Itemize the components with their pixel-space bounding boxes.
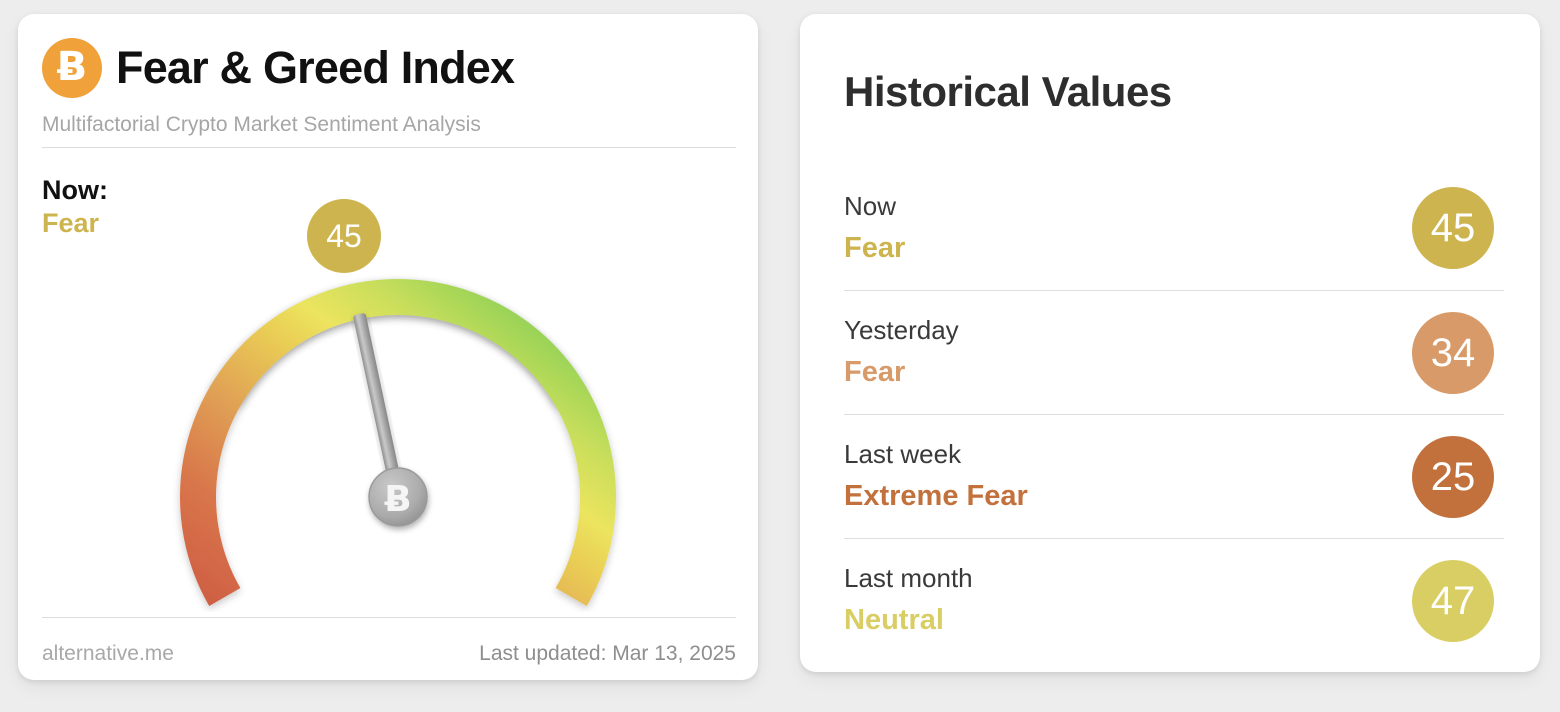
last-updated-text: Last updated: Mar 13, 2025 (479, 642, 736, 666)
page-title: Fear & Greed Index (116, 42, 514, 94)
bitcoin-needle-glyph: Ƀ (384, 479, 411, 520)
history-row-text: Last week Extreme Fear (844, 438, 1412, 514)
page-root: Ƀ Fear & Greed Index Multifactorial Cryp… (0, 0, 1560, 712)
history-list: Now Fear 45 Yesterday Fear 34 Last wee (844, 166, 1504, 662)
header-divider (42, 147, 736, 148)
card-header: Ƀ Fear & Greed Index (42, 38, 514, 98)
gauge-value-badge: 45 (307, 199, 381, 273)
fear-greed-gauge-card: Ƀ Fear & Greed Index Multifactorial Cryp… (18, 14, 758, 680)
history-row-value: 34 (1431, 333, 1476, 373)
history-row-text: Now Fear (844, 190, 1412, 266)
status-badge: 25 (1412, 436, 1494, 518)
page-subtitle: Multifactorial Crypto Market Sentiment A… (42, 113, 481, 137)
list-item[interactable]: Now Fear 45 (844, 166, 1504, 290)
history-row-period: Yesterday (844, 314, 1412, 348)
status-badge: 34 (1412, 312, 1494, 394)
bitcoin-glyph: Ƀ (57, 47, 88, 87)
status-badge: 47 (1412, 560, 1494, 642)
history-row-classification: Fear (844, 354, 1412, 390)
status-badge: 45 (1412, 187, 1494, 269)
history-row-classification: Neutral (844, 602, 1412, 638)
gauge-value-text: 45 (326, 220, 362, 252)
history-row-classification: Extreme Fear (844, 478, 1412, 514)
now-classification: Fear (42, 207, 108, 240)
history-row-value: 45 (1431, 208, 1476, 248)
current-value-block: Now: Fear (42, 174, 108, 241)
history-title: Historical Values (844, 68, 1172, 116)
list-item[interactable]: Yesterday Fear 34 (844, 290, 1504, 414)
history-row-text: Yesterday Fear (844, 314, 1412, 390)
history-row-period: Last month (844, 562, 1412, 596)
history-row-value: 25 (1431, 457, 1476, 497)
footer-divider (42, 617, 736, 618)
now-label: Now: (42, 174, 108, 207)
list-item[interactable]: Last week Extreme Fear 25 (844, 414, 1504, 538)
history-row-period: Last week (844, 438, 1412, 472)
source-link[interactable]: alternative.me (42, 642, 174, 666)
bitcoin-icon: Ƀ (42, 38, 102, 98)
historical-values-card: Historical Values Now Fear 45 Yesterday … (800, 14, 1540, 672)
gauge-arc (198, 297, 598, 597)
history-row-classification: Fear (844, 230, 1412, 266)
history-row-text: Last month Neutral (844, 562, 1412, 638)
gauge-needle-hub: Ƀ (369, 468, 427, 526)
list-item[interactable]: Last month Neutral 47 (844, 538, 1504, 662)
history-row-value: 47 (1431, 581, 1476, 621)
gauge-chart: Ƀ 45 (138, 192, 658, 612)
gauge-svg: Ƀ (138, 192, 658, 612)
history-row-period: Now (844, 190, 1412, 224)
